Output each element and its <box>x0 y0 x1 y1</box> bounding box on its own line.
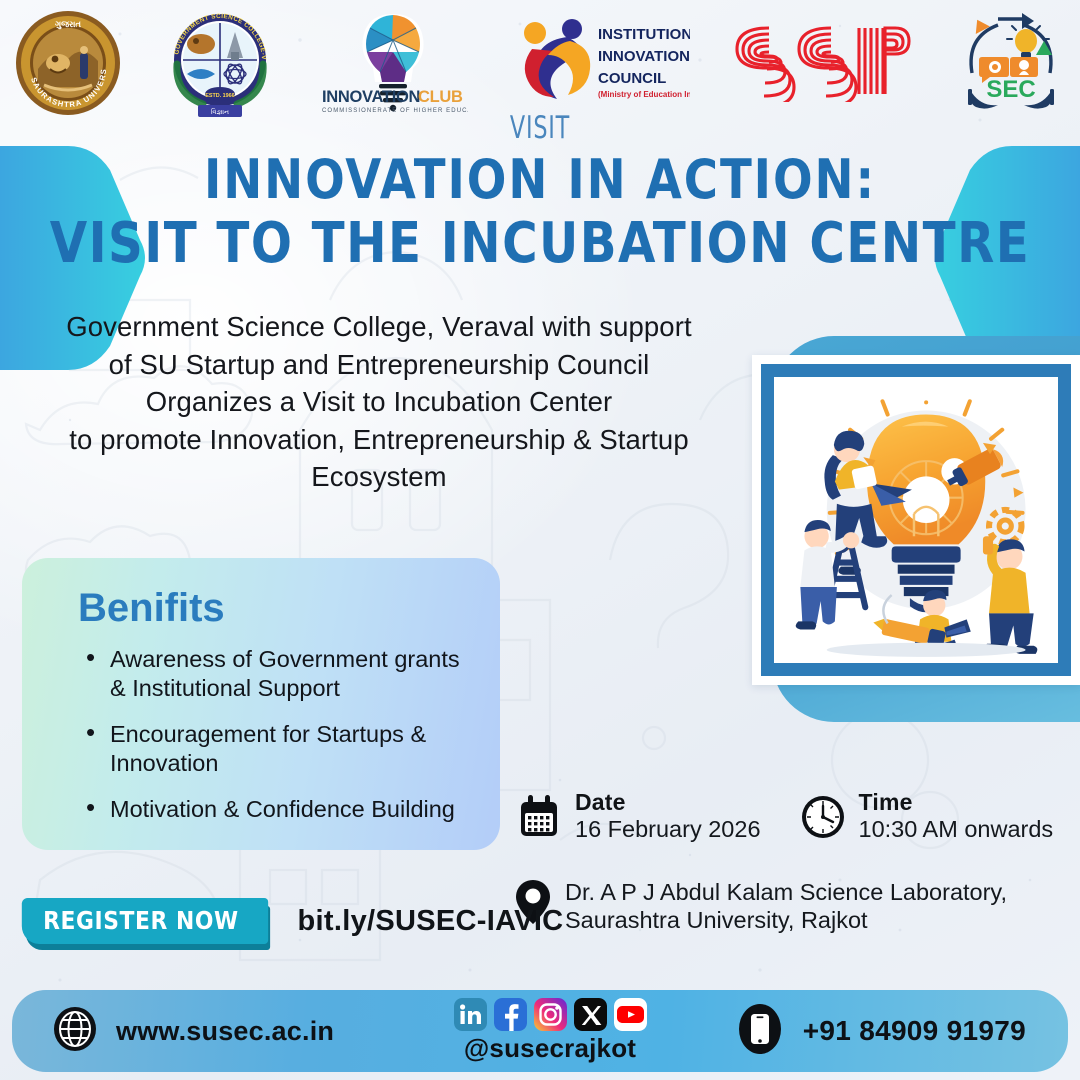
registration-link[interactable]: bit.ly/SUSEC-IAVIC <box>298 905 564 938</box>
date-label: Date <box>575 790 761 815</box>
youtube-icon[interactable] <box>614 998 647 1031</box>
innovation-club-logo: INNOVATION CLUB COMMISSIONERATE OF HIGHE… <box>318 10 468 116</box>
eyebrow-visit: VISIT <box>108 110 972 146</box>
event-description: Government Science College, Veraval with… <box>18 308 740 496</box>
date-block: Date 16 February 2026 <box>515 790 761 846</box>
title-line-1: INNOVATION IN ACTION: <box>22 148 1059 212</box>
svg-text:INNOVATION: INNOVATION <box>322 88 420 106</box>
venue-block: Dr. A P J Abdul Kalam Science Laboratory… <box>515 878 1075 934</box>
time-block: Time 10:30 AM onwards <box>799 790 1054 846</box>
illustration-frame <box>752 355 1080 685</box>
website-text: www.susec.ac.in <box>116 1016 334 1047</box>
page-title: INNOVATION IN ACTION: VISIT TO THE INCUB… <box>0 148 1080 276</box>
svg-text:ગુજરાત: ગુજરાત <box>55 19 81 30</box>
svg-text:CLUB: CLUB <box>418 88 463 106</box>
partner-logos-row: ગુજરાત SAURASHTRA UNIVERSITY <box>0 0 1080 120</box>
svg-text:SEC: SEC <box>986 76 1035 103</box>
description-line: Ecosystem <box>18 458 740 496</box>
time-label: Time <box>859 790 1054 815</box>
svg-text:(Ministry of Education Initiat: (Ministry of Education Initiative) <box>598 90 690 99</box>
susec-logo: SEC <box>956 11 1066 115</box>
website-block[interactable]: www.susec.ac.in <box>52 1006 334 1057</box>
title-line-2: VISIT TO THE INCUBATION CENTRE <box>22 212 1059 276</box>
venue-text: Dr. A P J Abdul Kalam Science Laboratory… <box>565 878 1007 934</box>
institutions-innovation-council-logo: INSTITUTION'S INNOVATION COUNCIL (Minist… <box>510 11 690 115</box>
date-text-group: Date 16 February 2026 <box>575 790 761 844</box>
clock-icon <box>799 793 847 846</box>
benefits-list-item: Encouragement for Startups & Innovation <box>84 720 474 777</box>
svg-text:ESTD. 1966: ESTD. 1966 <box>205 93 234 99</box>
date-value: 16 February 2026 <box>575 815 761 844</box>
instagram-icon[interactable] <box>534 998 567 1031</box>
svg-text:INNOVATION: INNOVATION <box>598 48 690 65</box>
venue-line-2: Saurashtra University, Rajkot <box>565 906 1007 934</box>
government-science-college-veraval-logo: GOVERNMENT SCIENCE COLLEGE-VERAVAL ESTD.… <box>165 8 275 118</box>
x-icon[interactable] <box>574 998 607 1031</box>
calendar-icon <box>515 793 563 846</box>
illustration-inner-border <box>761 364 1071 676</box>
benefits-heading: Benifits <box>78 586 474 631</box>
time-value: 10:30 AM onwards <box>859 815 1054 844</box>
description-line: to promote Innovation, Entrepreneurship … <box>18 421 740 459</box>
ssip-logo <box>733 24 913 102</box>
social-handle: @susecrajkot <box>435 1033 665 1064</box>
benefits-list-item: Awareness of Government grants & Institu… <box>84 645 474 702</box>
venue-line-1: Dr. A P J Abdul Kalam Science Laboratory… <box>565 878 1007 906</box>
svg-text:COUNCIL: COUNCIL <box>598 70 666 87</box>
time-text-group: Time 10:30 AM onwards <box>859 790 1054 844</box>
globe-icon <box>52 1006 98 1057</box>
date-time-row: Date 16 February 2026 Ti <box>515 790 1053 846</box>
footer-bar: www.susec.ac.in <box>12 990 1068 1072</box>
description-line: Government Science College, Veraval with… <box>18 308 740 346</box>
poster-canvas: ગુજરાત SAURASHTRA UNIVERSITY <box>0 0 1080 1080</box>
linkedin-icon[interactable] <box>454 998 487 1031</box>
mobile-phone-icon <box>737 1003 783 1060</box>
social-block: @susecrajkot <box>435 998 665 1064</box>
saurashtra-university-logo: ગુજરાત SAURASHTRA UNIVERSITY <box>14 9 122 117</box>
benefits-list: Awareness of Government grants & Institu… <box>84 645 474 824</box>
benefits-list-item: Motivation & Confidence Building <box>84 795 474 824</box>
svg-text:INSTITUTION'S: INSTITUTION'S <box>598 26 690 43</box>
register-row: REGISTER NOW bit.ly/SUSEC-IAVIC <box>18 898 563 944</box>
social-icons-row <box>435 998 665 1031</box>
benefits-card: Benifits Awareness of Government grants … <box>22 558 500 850</box>
facebook-icon[interactable] <box>494 998 527 1031</box>
phone-block[interactable]: +91 84909 91979 <box>737 1003 1026 1060</box>
phone-number: +91 84909 91979 <box>803 1015 1026 1047</box>
register-now-button[interactable]: REGISTER NOW <box>22 898 268 944</box>
innovation-teamwork-lightbulb-illustration <box>774 377 1058 663</box>
description-line: Organizes a Visit to Incubation Center <box>18 383 740 421</box>
description-line: of SU Startup and Entrepreneurship Counc… <box>18 346 740 384</box>
